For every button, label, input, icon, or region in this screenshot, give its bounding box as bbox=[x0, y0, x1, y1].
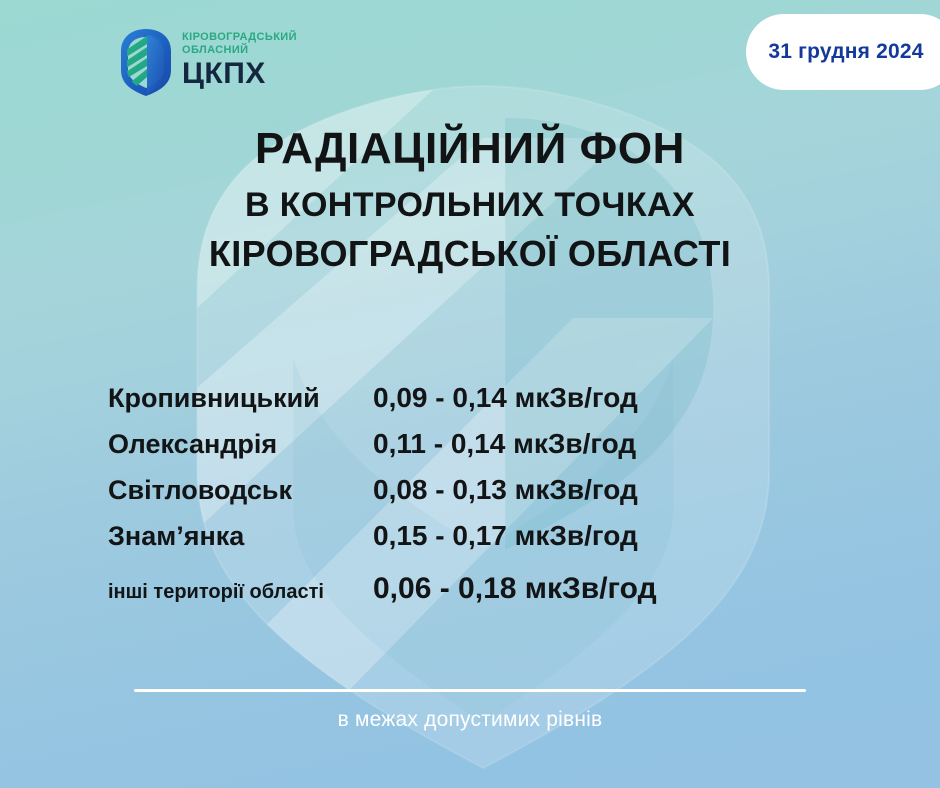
row-location: Олександрія bbox=[108, 429, 373, 460]
row-value: 0,06 - 0,18 мкЗв/год bbox=[373, 572, 657, 606]
date-badge-label: 31 грудня 2024 bbox=[768, 40, 935, 64]
row-location: інші території області bbox=[108, 581, 373, 604]
row-location: Світловодськ bbox=[108, 475, 373, 506]
date-badge: 31 грудня 2024 bbox=[746, 14, 940, 90]
shield-logo-icon bbox=[118, 27, 174, 97]
organisation-logo: КІРОВОГРАДСЬКИЙ ОБЛАСНИЙ ЦКПХ bbox=[118, 27, 297, 97]
title-line-1: РАДІАЦІЙНИЙ ФОН bbox=[0, 126, 940, 173]
row-value: 0,09 - 0,14 мкЗв/год bbox=[373, 382, 638, 414]
logo-line-2: ОБЛАСНИЙ bbox=[182, 44, 297, 57]
row-value: 0,11 - 0,14 мкЗв/год bbox=[373, 428, 636, 460]
page-title: РАДІАЦІЙНИЙ ФОН В КОНТРОЛЬНИХ ТОЧКАХ КІР… bbox=[0, 126, 940, 274]
footer-note: в межах допустимих рівнів bbox=[0, 708, 940, 732]
row-location: Кропивницький bbox=[108, 383, 373, 414]
table-row: Світловодськ 0,08 - 0,13 мкЗв/год bbox=[108, 474, 868, 506]
table-row: Знам’янка 0,15 - 0,17 мкЗв/год bbox=[108, 520, 868, 552]
row-location: Знам’янка bbox=[108, 521, 373, 552]
footer: в межах допустимих рівнів bbox=[0, 689, 940, 732]
table-row: інші території області 0,06 - 0,18 мкЗв/… bbox=[108, 572, 868, 606]
row-value: 0,08 - 0,13 мкЗв/год bbox=[373, 474, 638, 506]
title-line-3: КІРОВОГРАДСЬКОЇ ОБЛАСТІ bbox=[0, 234, 940, 274]
poster-canvas: КІРОВОГРАДСЬКИЙ ОБЛАСНИЙ ЦКПХ 31 грудня … bbox=[0, 0, 940, 788]
table-row: Олександрія 0,11 - 0,14 мкЗв/год bbox=[108, 428, 868, 460]
divider bbox=[134, 689, 806, 692]
header: КІРОВОГРАДСЬКИЙ ОБЛАСНИЙ ЦКПХ 31 грудня … bbox=[0, 0, 940, 110]
row-value: 0,15 - 0,17 мкЗв/год bbox=[373, 520, 638, 552]
title-line-2: В КОНТРОЛЬНИХ ТОЧКАХ bbox=[0, 187, 940, 224]
table-row: Кропивницький 0,09 - 0,14 мкЗв/год bbox=[108, 382, 868, 414]
logo-abbreviation: ЦКПХ bbox=[182, 58, 297, 89]
logo-line-1: КІРОВОГРАДСЬКИЙ bbox=[182, 31, 297, 44]
measurements-table: Кропивницький 0,09 - 0,14 мкЗв/год Олекс… bbox=[108, 382, 868, 606]
logo-wordmark: КІРОВОГРАДСЬКИЙ ОБЛАСНИЙ ЦКПХ bbox=[182, 27, 297, 89]
